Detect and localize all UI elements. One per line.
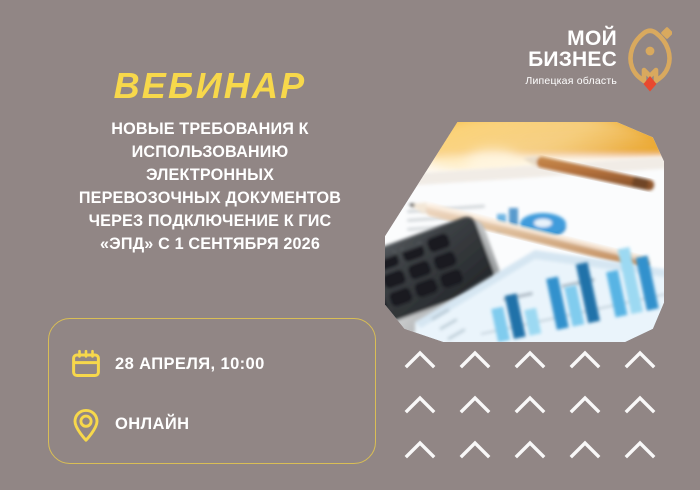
location-pin-icon — [71, 408, 101, 440]
page-title-line: ИСПОЛЬЗОВАНИЮ — [26, 141, 394, 164]
page-title-line: ПЕРЕВОЗОЧНЫХ ДОКУМЕНТОВ — [26, 187, 394, 210]
rocket-pin-icon — [624, 26, 672, 92]
hero-photo — [385, 122, 664, 342]
brand-logo: МОЙ БИЗНЕС Липецкая область — [525, 26, 672, 92]
page-title-line: ЧЕРЕЗ ПОДКЛЮЧЕНИЕ К ГИС — [26, 210, 394, 233]
page-kicker: ВЕБИНАР — [0, 68, 420, 104]
brand-region-label: Липецкая область — [525, 75, 617, 87]
event-location-label: ОНЛАЙН — [115, 415, 189, 434]
webinar-poster: МОЙ БИЗНЕС Липецкая область ВЕБИНАР НОВЫ… — [0, 0, 700, 490]
page-title: НОВЫЕ ТРЕБОВАНИЯ К ИСПОЛЬЗОВАНИЮ ЭЛЕКТРО… — [26, 118, 394, 256]
page-title-line: «ЭПД» С 1 СЕНТЯБРЯ 2026 — [26, 233, 394, 256]
event-location-row: ОНЛАЙН — [71, 401, 375, 447]
page-title-line: НОВЫЕ ТРЕБОВАНИЯ К — [26, 118, 394, 141]
event-date-row: 28 АПРЕЛЯ, 10:00 — [71, 341, 375, 387]
brand-logo-text: МОЙ БИЗНЕС Липецкая область — [525, 26, 617, 87]
event-details-box: 28 АПРЕЛЯ, 10:00 ОНЛАЙН — [48, 318, 376, 464]
brand-name-line1: МОЙ — [567, 28, 617, 49]
brand-name-line2: БИЗНЕС — [528, 49, 617, 71]
page-title-line: ЭЛЕКТРОННЫХ — [26, 164, 394, 187]
event-date-label: 28 АПРЕЛЯ, 10:00 — [115, 355, 265, 374]
calendar-icon — [71, 348, 101, 380]
